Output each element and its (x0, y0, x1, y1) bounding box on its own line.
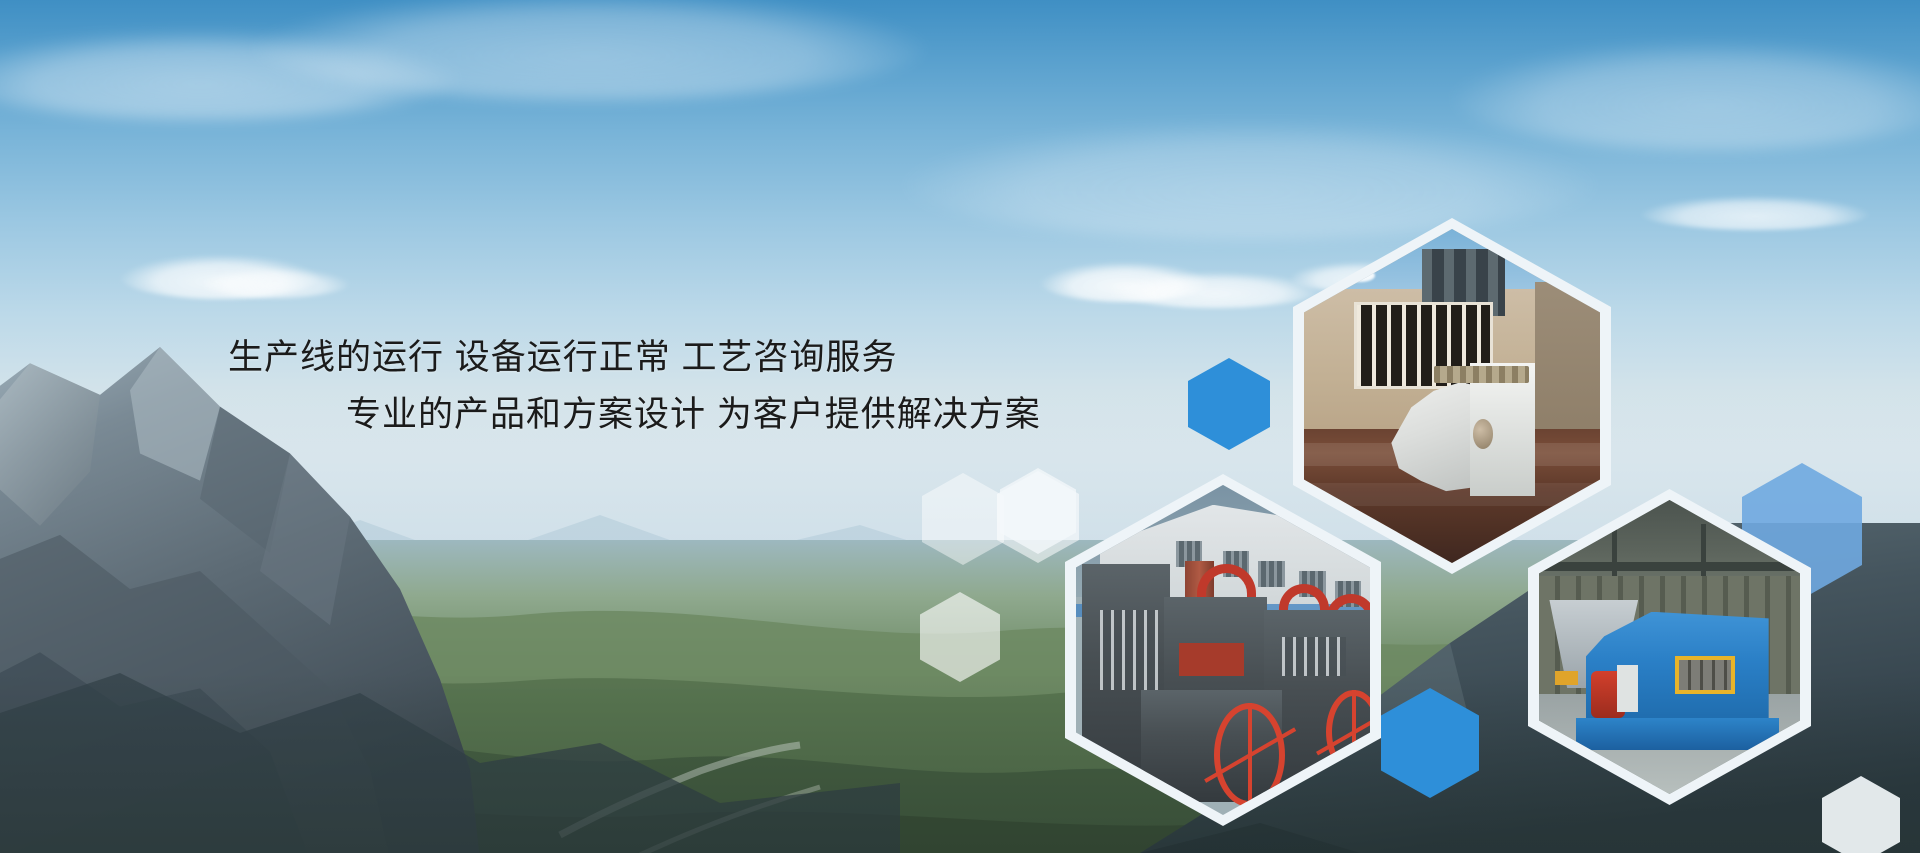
headline-line-2: 专业的产品和方案设计 为客户提供解决方案 (228, 387, 1128, 444)
hex-photo-crusher-image (1304, 229, 1600, 563)
cloud-icon (900, 120, 1600, 240)
banner-stage: 生产线的运行 设备运行正常 工艺咨询服务 专业的产品和方案设计 为客户提供解决方… (0, 0, 1920, 853)
mountain-foreground-bottom (0, 653, 900, 853)
hex-photo-production-line-image (1076, 485, 1370, 815)
cloud-icon (200, 268, 350, 298)
headline-line-1: 生产线的运行 设备运行正常 工艺咨询服务 (228, 338, 897, 377)
hex-photo-blue-shredder-image (1539, 500, 1800, 794)
cloud-icon (1110, 272, 1320, 308)
banner-headline: 生产线的运行 设备运行正常 工艺咨询服务 专业的产品和方案设计 为客户提供解决方… (228, 330, 1128, 443)
cloud-icon (1640, 196, 1870, 230)
